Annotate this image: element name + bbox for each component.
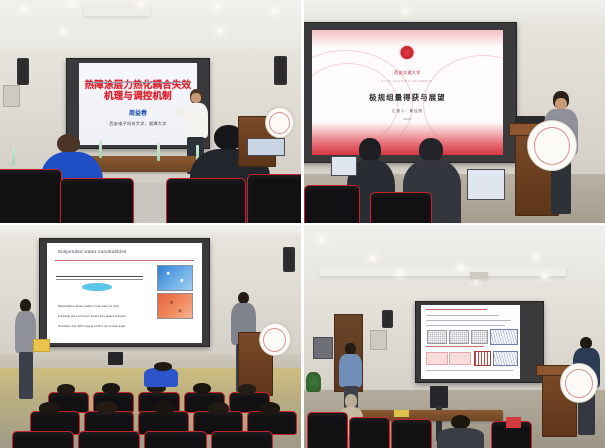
chair[interactable] <box>307 412 348 448</box>
water-bottle <box>157 143 160 161</box>
slide-bullet: Simulation and AFM imaging confirm the c… <box>58 325 126 328</box>
ceiling-vent <box>84 4 150 15</box>
figure-mesh-diagram <box>493 351 518 366</box>
figure-mesh-right <box>490 329 518 346</box>
slide-text-line <box>426 309 487 310</box>
slide-text-line <box>426 315 499 316</box>
figure-orange-heatmap <box>157 293 193 319</box>
slide-text-line <box>426 370 513 371</box>
monitor[interactable] <box>313 337 333 359</box>
slide-date: 2023年 <box>312 117 503 121</box>
slide-subtitle: 汇报人：黄佳丽 <box>312 109 503 114</box>
figure-dot-grid <box>427 330 447 344</box>
chair[interactable] <box>0 169 62 223</box>
ceiling-beam <box>319 267 566 276</box>
emblem-decoration <box>560 363 598 403</box>
chair[interactable] <box>144 431 206 448</box>
assistant-torso <box>339 354 362 387</box>
chair[interactable] <box>391 419 432 448</box>
wall-speaker <box>382 310 393 328</box>
audience-head <box>259 402 280 415</box>
chair[interactable] <box>166 178 246 223</box>
chair[interactable] <box>78 431 140 448</box>
audience-head <box>39 402 60 415</box>
figure-pink-box <box>426 352 448 366</box>
audience-head <box>193 383 211 394</box>
slide-nanobubbles: Suspended water nanobubbles Nanobubbles … <box>47 243 202 344</box>
emblem-decoration <box>527 120 577 171</box>
ceiling-light <box>21 7 27 11</box>
figure-bar-chart <box>474 351 492 366</box>
projection-screen-frame <box>415 301 543 383</box>
potted-plant <box>306 372 321 392</box>
attendee-head <box>345 394 357 408</box>
emblem-decoration <box>259 323 291 356</box>
speaker-face <box>191 93 201 102</box>
ceiling-light <box>542 274 548 278</box>
attendee-head <box>419 138 443 162</box>
host-head <box>20 299 31 312</box>
audience-torso-blue <box>144 368 177 387</box>
audience-area <box>0 363 301 448</box>
slide-bullet: Interfacial gas enrichment lowers the La… <box>58 315 126 318</box>
attendee-torso <box>437 428 483 448</box>
university-name-english: XI'AN JIAOTONG UNIVERSITY <box>312 80 503 83</box>
audience-head <box>208 402 229 415</box>
ceiling-light <box>217 29 223 33</box>
audience-head <box>57 384 75 395</box>
chair[interactable] <box>349 417 390 448</box>
chair[interactable] <box>12 431 74 448</box>
diagram-surface-line <box>56 276 143 277</box>
collage-panel-bottom-left: Suspended water nanobubbles Nanobubbles … <box>0 225 301 448</box>
wall-speaker <box>283 247 295 272</box>
slide-divider <box>86 82 191 83</box>
figure-pink-box <box>449 352 471 366</box>
wall-control-panel <box>3 85 20 107</box>
wall-speaker <box>17 58 29 85</box>
figure-blue-heatmap <box>157 265 193 291</box>
water-bottle <box>12 147 15 165</box>
yellow-folder <box>33 339 50 352</box>
ceiling-projector <box>470 272 488 279</box>
audience-head <box>96 401 117 414</box>
slide-dense-text <box>421 305 520 379</box>
wall-control-panel <box>370 330 387 350</box>
laptop-screen[interactable] <box>247 138 285 156</box>
slide-title-line2: 机理与调控机制 <box>104 91 172 102</box>
red-folder <box>506 417 521 428</box>
diagram-surface-line-2 <box>56 279 143 280</box>
laptop-screen[interactable] <box>467 169 505 200</box>
collage-panel-top-right: 西安交通大学 XI'AN JIAOTONG UNIVERSITY 极规组量得获与… <box>304 0 605 223</box>
attendee-head <box>359 138 380 162</box>
slide-diagram <box>56 265 143 295</box>
chair[interactable] <box>370 192 432 223</box>
slide-text-line <box>426 346 483 347</box>
collage-panel-top-left: 热障涂层力热化耦合失效 机理与调控机制 周益春 西安电子科技大学，湘潭大学 <box>0 0 301 223</box>
emblem-decoration <box>265 107 294 138</box>
figure-dot-grid <box>449 330 469 344</box>
wall-speaker <box>274 56 288 85</box>
assistant-head <box>345 343 356 354</box>
slide-text-line <box>426 325 505 326</box>
projection-screen-frame: Suspended water nanobubbles Nanobubbles … <box>39 238 210 347</box>
collage-panel-bottom-right <box>304 225 605 448</box>
slide-university-title: 西安交通大学 XI'AN JIAOTONG UNIVERSITY 极规组量得获与… <box>312 30 503 154</box>
ceiling-light <box>458 265 464 269</box>
slide-affiliation: 西安电子科技大学，湘潭大学 <box>109 121 166 127</box>
chair[interactable] <box>247 174 301 223</box>
photo-collage: 热障涂层力热化耦合失效 机理与调控机制 周益春 西安电子科技大学，湘潭大学 <box>0 0 605 448</box>
chair[interactable] <box>304 185 360 223</box>
audience-head <box>102 383 120 394</box>
slide-header-rule <box>55 260 195 261</box>
chair[interactable] <box>211 431 273 448</box>
slide-presenter-name: 周益春 <box>129 108 147 117</box>
ceiling-light <box>473 279 479 283</box>
speaker-face <box>555 98 568 110</box>
slide-text-line <box>426 320 511 321</box>
slide-top-wave <box>312 30 503 47</box>
laptop-screen[interactable] <box>331 156 357 176</box>
attendee-head <box>57 134 80 154</box>
yellow-folder <box>394 410 409 417</box>
university-logo <box>401 46 414 59</box>
audience-head <box>154 401 175 414</box>
slide-main-title: 极规组量得获与展望 <box>312 92 503 103</box>
audience-head <box>154 362 172 371</box>
camera-tripod <box>430 386 448 408</box>
audience-head <box>238 384 256 395</box>
slide-bullet: Nanobubbles remain stable in bulk water … <box>58 305 120 308</box>
slide-header: Suspended water nanobubbles <box>58 249 127 254</box>
person-attendee-front <box>436 415 484 448</box>
ceiling-light <box>271 9 277 13</box>
diagram-bubble <box>82 283 112 291</box>
chair[interactable] <box>60 178 134 223</box>
figure-dot-grid <box>471 330 489 344</box>
university-name: 西安交通大学 <box>312 70 503 76</box>
